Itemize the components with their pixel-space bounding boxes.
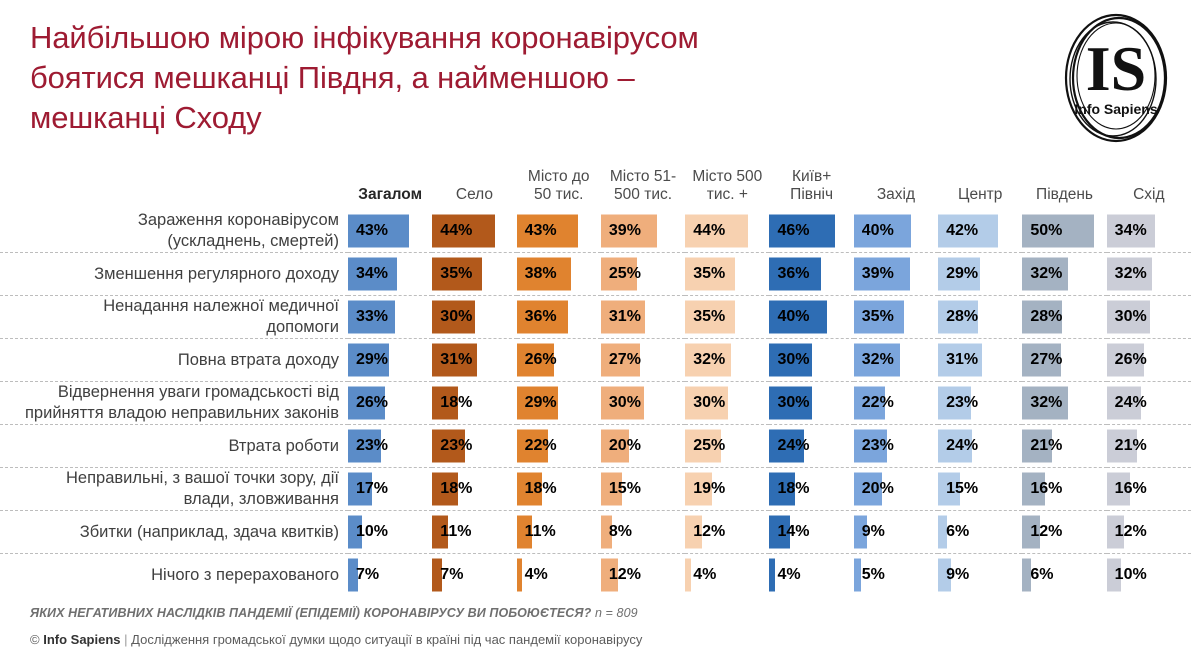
table-row: Зараження коронавірусом(ускладнень, смер… [0, 210, 1191, 253]
data-cell[interactable]: 17% [348, 468, 432, 511]
value-label: 23% [854, 425, 938, 467]
data-cell[interactable]: 20% [601, 425, 685, 468]
data-cell[interactable]: 16% [1022, 468, 1106, 511]
value-label: 9% [938, 554, 1022, 596]
row-label-line-1: Повна втрата доходу [0, 350, 339, 371]
data-cell[interactable]: 50% [1022, 210, 1106, 253]
table-row: Відвернення уваги громадськості відприйн… [0, 382, 1191, 425]
data-table: ЗагаломСелоМісто до 50 тис.Місто 51-500 … [0, 168, 1191, 596]
slide-canvas: Найбільшою мірою інфікування коронавірус… [0, 0, 1191, 657]
value-label: 50% [1022, 210, 1106, 252]
data-cell[interactable]: 32% [1107, 253, 1191, 296]
row-label-line-1: Зменшення регулярного доходу [0, 264, 339, 285]
value-label: 34% [348, 253, 432, 295]
value-label: 30% [601, 382, 685, 424]
data-cell[interactable]: 19% [685, 468, 769, 511]
data-cell[interactable]: 32% [854, 339, 938, 382]
value-label: 7% [348, 554, 432, 596]
value-label: 23% [348, 425, 432, 467]
data-cell[interactable]: 4% [685, 554, 769, 597]
row-label-line-1: Відвернення уваги громадськості від [0, 382, 339, 403]
data-cell[interactable]: 46% [769, 210, 853, 253]
page-title-line-1: Найбільшою мірою інфікування коронавірус… [30, 18, 980, 58]
row-label: Повна втрата доходу [0, 339, 348, 382]
value-label: 31% [432, 339, 516, 381]
column-header-7[interactable]: Захід [854, 168, 938, 210]
data-cell[interactable]: 29% [348, 339, 432, 382]
value-label: 35% [685, 296, 769, 338]
value-label: 31% [601, 296, 685, 338]
info-sapiens-logo: IS Info Sapiens [1057, 8, 1175, 148]
row-label: Нічого з перерахованого [0, 554, 348, 597]
data-cell[interactable]: 44% [432, 210, 516, 253]
value-label: 32% [1107, 253, 1191, 295]
value-label: 20% [854, 468, 938, 510]
value-label: 26% [1107, 339, 1191, 381]
row-label: Збитки (наприклад, здача квитків) [0, 511, 348, 554]
data-cell[interactable]: 23% [432, 425, 516, 468]
data-cell[interactable]: 30% [1107, 296, 1191, 339]
data-cell[interactable]: 42% [938, 210, 1022, 253]
survey-question-text: ЯКИХ НЕГАТИВНИХ НАСЛІДКІВ ПАНДЕМІЇ (ЕПІД… [30, 606, 591, 620]
value-label: 38% [517, 253, 601, 295]
value-label: 12% [601, 554, 685, 596]
survey-question: ЯКИХ НЕГАТИВНИХ НАСЛІДКІВ ПАНДЕМІЇ (ЕПІД… [30, 606, 638, 620]
data-cell[interactable]: 32% [1022, 382, 1106, 425]
value-label: 30% [769, 339, 853, 381]
value-label: 12% [1022, 511, 1106, 553]
value-label: 6% [1022, 554, 1106, 596]
data-cell[interactable]: 18% [432, 468, 516, 511]
data-cell[interactable]: 28% [1022, 296, 1106, 339]
data-cell[interactable]: 31% [432, 339, 516, 382]
data-cell[interactable]: 23% [938, 382, 1022, 425]
data-cell[interactable]: 22% [517, 425, 601, 468]
value-label: 42% [938, 210, 1022, 252]
value-label: 10% [1107, 554, 1191, 596]
row-label-line-2: допомоги [0, 317, 339, 338]
value-label: 15% [938, 468, 1022, 510]
data-cell[interactable]: 9% [938, 554, 1022, 597]
data-cell[interactable]: 11% [432, 511, 516, 554]
data-cell[interactable]: 15% [938, 468, 1022, 511]
value-label: 10% [348, 511, 432, 553]
value-label: 21% [1107, 425, 1191, 467]
row-label: Втрата роботи [0, 425, 348, 468]
value-label: 44% [432, 210, 516, 252]
row-label-line-2: прийняття владою неправильних законів [0, 403, 339, 424]
value-label: 14% [769, 511, 853, 553]
value-label: 32% [1022, 253, 1106, 295]
data-cell[interactable]: 33% [348, 296, 432, 339]
data-cell[interactable]: 35% [432, 253, 516, 296]
data-cell[interactable]: 30% [601, 382, 685, 425]
value-label: 39% [601, 210, 685, 252]
data-cell[interactable]: 35% [685, 296, 769, 339]
row-label-line-1: Втрата роботи [0, 436, 339, 457]
data-cell[interactable]: 15% [601, 468, 685, 511]
data-cell[interactable]: 23% [348, 425, 432, 468]
data-cell[interactable]: 9% [854, 511, 938, 554]
data-cell[interactable]: 7% [432, 554, 516, 597]
data-cell[interactable]: 29% [938, 253, 1022, 296]
column-header-8[interactable]: Центр [938, 168, 1022, 210]
table-header: ЗагаломСелоМісто до 50 тис.Місто 51-500 … [0, 168, 1191, 210]
data-cell[interactable]: 27% [601, 339, 685, 382]
data-cell[interactable]: 34% [1107, 210, 1191, 253]
data-cell[interactable]: 12% [601, 554, 685, 597]
column-header-5[interactable]: Місто 500 тис. + [685, 168, 769, 210]
data-cell[interactable]: 34% [348, 253, 432, 296]
data-cell[interactable]: 26% [348, 382, 432, 425]
data-cell[interactable]: 12% [1022, 511, 1106, 554]
value-label: 4% [769, 554, 853, 596]
data-cell[interactable]: 5% [854, 554, 938, 597]
column-header-4[interactable]: Місто 51-500 тис. [601, 168, 685, 210]
value-label: 32% [685, 339, 769, 381]
value-label: 6% [938, 511, 1022, 553]
table-row: Нічого з перерахованого7%7%4%12%4%4%5%9%… [0, 554, 1191, 597]
data-cell[interactable]: 12% [1107, 511, 1191, 554]
value-label: 11% [432, 511, 516, 553]
column-header-rowlabel [0, 168, 348, 210]
value-label: 4% [685, 554, 769, 596]
data-cell[interactable]: 38% [517, 253, 601, 296]
data-cell[interactable]: 31% [938, 339, 1022, 382]
column-header-6[interactable]: Київ+ Північ [769, 168, 853, 210]
value-label: 36% [517, 296, 601, 338]
data-cell[interactable]: 23% [854, 425, 938, 468]
table-row: Зменшення регулярного доходу34%35%38%25%… [0, 253, 1191, 296]
value-label: 11% [517, 511, 601, 553]
value-label: 43% [348, 210, 432, 252]
copyright-brand: Info Sapiens [43, 632, 120, 647]
data-cell[interactable]: 18% [432, 382, 516, 425]
table-row: Збитки (наприклад, здача квитків)10%11%1… [0, 511, 1191, 554]
value-label: 15% [601, 468, 685, 510]
value-label: 23% [938, 382, 1022, 424]
data-cell[interactable]: 8% [601, 511, 685, 554]
value-label: 46% [769, 210, 853, 252]
data-cell[interactable]: 27% [1022, 339, 1106, 382]
row-label-line-2: влади, зловживання [0, 489, 339, 510]
value-label: 35% [854, 296, 938, 338]
value-label: 33% [348, 296, 432, 338]
data-cell[interactable]: 24% [938, 425, 1022, 468]
data-cell[interactable]: 26% [517, 339, 601, 382]
value-label: 24% [938, 425, 1022, 467]
value-label: 30% [685, 382, 769, 424]
copyright-line: © Info Sapiens | Дослідження громадської… [30, 632, 642, 647]
value-label: 22% [854, 382, 938, 424]
sample-size: n = 809 [595, 606, 638, 620]
data-cell[interactable]: 12% [685, 511, 769, 554]
data-cell[interactable]: 7% [348, 554, 432, 597]
data-cell[interactable]: 30% [432, 296, 516, 339]
value-label: 28% [1022, 296, 1106, 338]
data-cell[interactable]: 20% [854, 468, 938, 511]
value-label: 9% [854, 511, 938, 553]
value-label: 44% [685, 210, 769, 252]
data-cell[interactable]: 4% [517, 554, 601, 597]
data-cell[interactable]: 6% [1022, 554, 1106, 597]
value-label: 36% [769, 253, 853, 295]
data-cell[interactable]: 43% [517, 210, 601, 253]
row-label: Відвернення уваги громадськості відприйн… [0, 382, 348, 425]
value-label: 29% [517, 382, 601, 424]
value-label: 22% [517, 425, 601, 467]
data-cell[interactable]: 32% [1022, 253, 1106, 296]
row-label-line-1: Нічого з перерахованого [0, 565, 339, 586]
value-label: 18% [769, 468, 853, 510]
column-header-3[interactable]: Місто до 50 тис. [517, 168, 601, 210]
row-label: Неправильні, з вашої точки зору, діївлад… [0, 468, 348, 511]
data-cell[interactable]: 36% [517, 296, 601, 339]
data-cell[interactable]: 21% [1107, 425, 1191, 468]
value-label: 8% [601, 511, 685, 553]
data-cell[interactable]: 4% [769, 554, 853, 597]
data-cell[interactable]: 6% [938, 511, 1022, 554]
value-label: 28% [938, 296, 1022, 338]
value-label: 30% [432, 296, 516, 338]
data-cell[interactable]: 28% [938, 296, 1022, 339]
value-label: 27% [601, 339, 685, 381]
value-label: 25% [601, 253, 685, 295]
value-label: 26% [517, 339, 601, 381]
table-row: Втрата роботи23%23%22%20%25%24%23%24%21%… [0, 425, 1191, 468]
column-header-10[interactable]: Схід [1107, 168, 1191, 210]
value-label: 35% [685, 253, 769, 295]
svg-text:IS: IS [1086, 33, 1147, 104]
data-cell[interactable]: 24% [769, 425, 853, 468]
row-label-line-1: Неправильні, з вашої точки зору, дії [0, 468, 339, 489]
value-label: 16% [1022, 468, 1106, 510]
value-label: 18% [517, 468, 601, 510]
column-header-9[interactable]: Південь [1022, 168, 1106, 210]
data-cell[interactable]: 30% [769, 339, 853, 382]
copyright-description: Дослідження громадської думки щодо ситуа… [131, 632, 642, 647]
value-label: 4% [517, 554, 601, 596]
row-label: Ненадання належної медичноїдопомоги [0, 296, 348, 339]
data-cell[interactable]: 18% [517, 468, 601, 511]
value-label: 29% [938, 253, 1022, 295]
data-cell[interactable]: 31% [601, 296, 685, 339]
data-cell[interactable]: 29% [517, 382, 601, 425]
row-label-line-1: Зараження коронавірусом [0, 210, 339, 231]
value-label: 16% [1107, 468, 1191, 510]
value-label: 30% [1107, 296, 1191, 338]
data-cell[interactable]: 14% [769, 511, 853, 554]
data-cell[interactable]: 26% [1107, 339, 1191, 382]
value-label: 12% [1107, 511, 1191, 553]
row-label: Зараження коронавірусом(ускладнень, смер… [0, 210, 348, 253]
table-body: Зараження коронавірусом(ускладнень, смер… [0, 210, 1191, 596]
value-label: 12% [685, 511, 769, 553]
value-label: 32% [854, 339, 938, 381]
data-cell[interactable]: 30% [769, 382, 853, 425]
data-cell[interactable]: 11% [517, 511, 601, 554]
data-cell[interactable]: 44% [685, 210, 769, 253]
data-cell[interactable]: 10% [1107, 554, 1191, 597]
data-cell[interactable]: 39% [854, 253, 938, 296]
data-cell[interactable]: 43% [348, 210, 432, 253]
value-label: 40% [769, 296, 853, 338]
row-label: Зменшення регулярного доходу [0, 253, 348, 296]
row-label-line-2: (ускладнень, смертей) [0, 231, 339, 252]
data-cell[interactable]: 22% [854, 382, 938, 425]
value-label: 35% [432, 253, 516, 295]
value-label: 31% [938, 339, 1022, 381]
data-cell[interactable]: 30% [685, 382, 769, 425]
value-label: 43% [517, 210, 601, 252]
data-cell[interactable]: 25% [601, 253, 685, 296]
heatmap-bar-matrix: ЗагаломСелоМісто до 50 тис.Місто 51-500 … [0, 168, 1191, 596]
value-label: 18% [432, 382, 516, 424]
value-label: 21% [1022, 425, 1106, 467]
value-label: 26% [348, 382, 432, 424]
page-title: Найбільшою мірою інфікування коронавірус… [30, 18, 980, 138]
data-cell[interactable]: 35% [854, 296, 938, 339]
column-header-2[interactable]: Село [432, 168, 516, 210]
page-title-line-3: мешканці Сходу [30, 98, 980, 138]
value-label: 30% [769, 382, 853, 424]
value-label: 40% [854, 210, 938, 252]
value-label: 19% [685, 468, 769, 510]
data-cell[interactable]: 24% [1107, 382, 1191, 425]
table-row: Повна втрата доходу29%31%26%27%32%30%32%… [0, 339, 1191, 382]
copyright-separator: | [124, 632, 127, 647]
value-label: 39% [854, 253, 938, 295]
column-header-1[interactable]: Загалом [348, 168, 432, 210]
value-label: 24% [1107, 382, 1191, 424]
data-cell[interactable]: 40% [769, 296, 853, 339]
data-cell[interactable]: 39% [601, 210, 685, 253]
value-label: 23% [432, 425, 516, 467]
value-label: 32% [1022, 382, 1106, 424]
value-label: 25% [685, 425, 769, 467]
data-cell[interactable]: 35% [685, 253, 769, 296]
value-label: 24% [769, 425, 853, 467]
value-label: 34% [1107, 210, 1191, 252]
data-cell[interactable]: 25% [685, 425, 769, 468]
value-label: 17% [348, 468, 432, 510]
value-label: 18% [432, 468, 516, 510]
row-label-line-1: Ненадання належної медичної [0, 296, 339, 317]
table-row: Неправильні, з вашої точки зору, діївлад… [0, 468, 1191, 511]
data-cell[interactable]: 21% [1022, 425, 1106, 468]
value-label: 5% [854, 554, 938, 596]
copyright-mark: © [30, 632, 40, 647]
value-label: 20% [601, 425, 685, 467]
data-cell[interactable]: 18% [769, 468, 853, 511]
row-label-line-1: Збитки (наприклад, здача квитків) [0, 522, 339, 543]
svg-text:Info Sapiens: Info Sapiens [1074, 101, 1157, 117]
data-cell[interactable]: 40% [854, 210, 938, 253]
page-title-line-2: боятися мешканці Півдня, а найменшою – [30, 58, 980, 98]
data-cell[interactable]: 36% [769, 253, 853, 296]
value-label: 7% [432, 554, 516, 596]
value-label: 29% [348, 339, 432, 381]
value-label: 27% [1022, 339, 1106, 381]
table-row: Ненадання належної медичноїдопомоги33%30… [0, 296, 1191, 339]
data-cell[interactable]: 10% [348, 511, 432, 554]
data-cell[interactable]: 32% [685, 339, 769, 382]
data-cell[interactable]: 16% [1107, 468, 1191, 511]
